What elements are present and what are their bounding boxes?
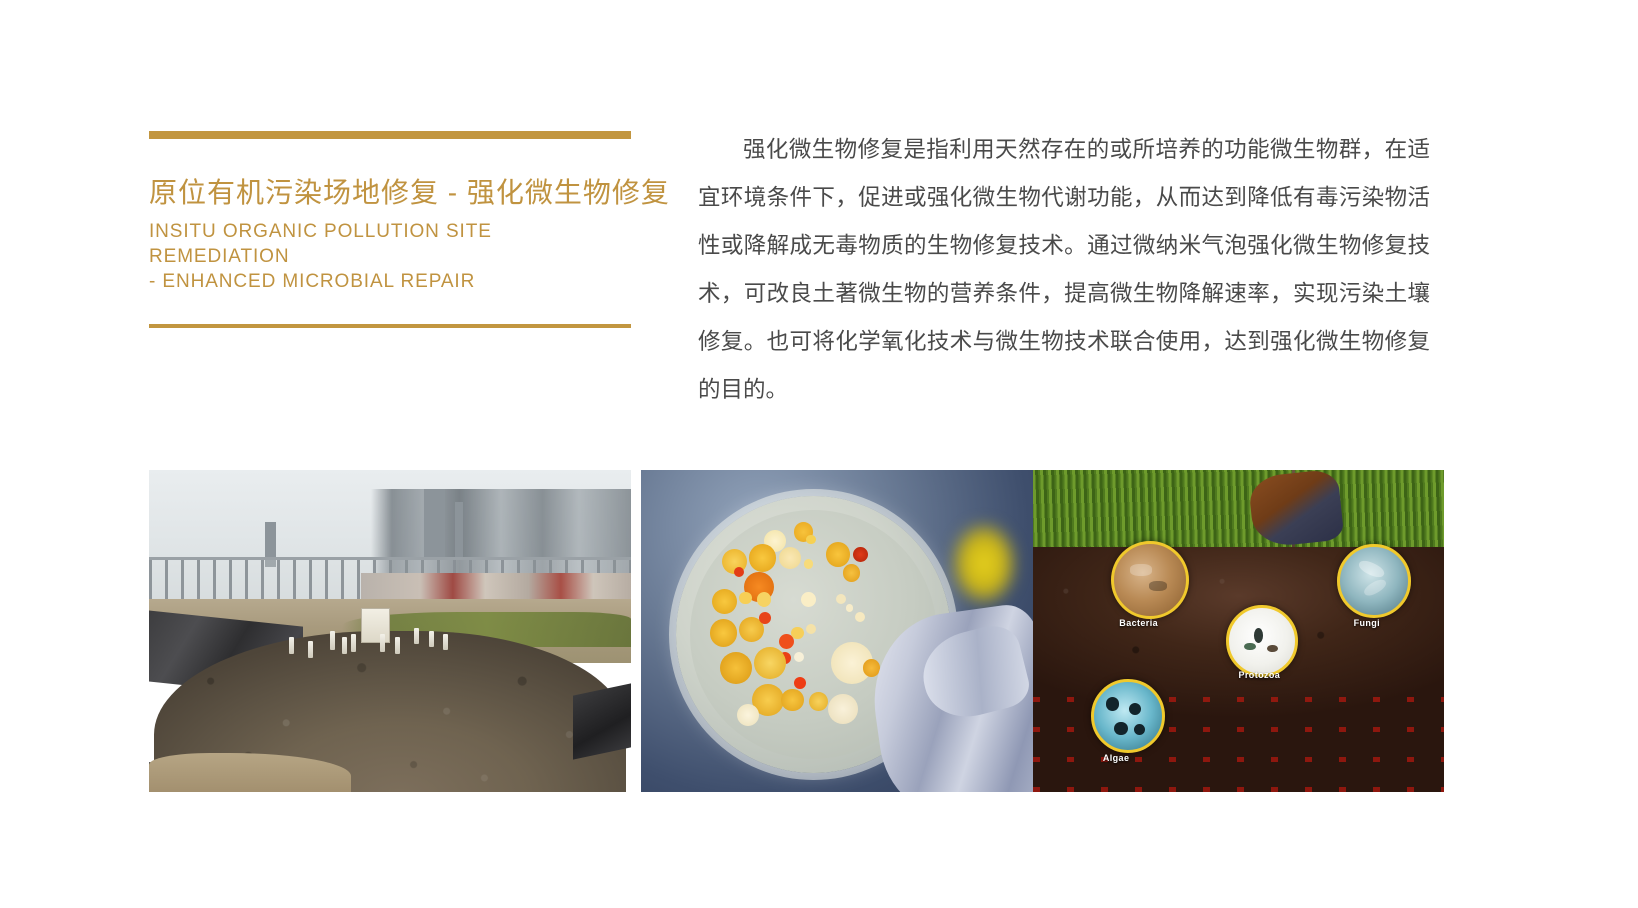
page-title-english-line2: - ENHANCED MICROBIAL REPAIR bbox=[149, 269, 631, 294]
site-injection-well bbox=[289, 637, 294, 653]
colony bbox=[781, 689, 803, 711]
micro-detail bbox=[1106, 697, 1120, 711]
micro-detail bbox=[1356, 558, 1386, 581]
colony bbox=[809, 692, 829, 712]
colony bbox=[806, 535, 816, 545]
colony bbox=[757, 592, 772, 607]
callout-algae bbox=[1091, 679, 1165, 753]
title-block: 原位有机污染场地修复 - 强化微生物修复 INSITU ORGANIC POLL… bbox=[149, 131, 631, 294]
micro-detail bbox=[1362, 577, 1389, 599]
micro-detail bbox=[1134, 724, 1145, 735]
site-injection-well bbox=[342, 637, 347, 653]
colony bbox=[779, 547, 801, 569]
micro-detail bbox=[1244, 643, 1256, 651]
body-paragraph: 强化微生物修复是指利用天然存在的或所培养的功能微生物群，在适宜环境条件下，促进或… bbox=[698, 126, 1430, 414]
colony bbox=[828, 694, 858, 724]
site-injection-well bbox=[380, 634, 385, 652]
colony bbox=[734, 567, 744, 577]
callout-label-bacteria: Bacteria bbox=[1119, 618, 1158, 628]
colony bbox=[737, 704, 759, 726]
soil-red-particles bbox=[1033, 679, 1444, 792]
photo-soil-microbiology: Bacteria Fungi Protozoa Algae bbox=[1033, 470, 1444, 792]
callout-label-algae: Algae bbox=[1103, 753, 1130, 763]
callout-protozoa bbox=[1226, 605, 1298, 677]
page-title-english: INSITU ORGANIC POLLUTION SITE REMEDIATIO… bbox=[149, 219, 631, 294]
colony bbox=[855, 612, 865, 622]
colony bbox=[826, 542, 851, 567]
colony bbox=[759, 612, 771, 624]
colony bbox=[843, 564, 860, 581]
site-black-liner-right bbox=[573, 682, 631, 760]
colony bbox=[846, 604, 853, 611]
photo-strip: Bacteria Fungi Protozoa Algae bbox=[149, 470, 1444, 792]
callout-bacteria bbox=[1111, 541, 1189, 619]
photo-contaminated-site bbox=[149, 470, 631, 792]
site-injection-well bbox=[330, 631, 335, 650]
colony bbox=[712, 589, 737, 614]
micro-detail bbox=[1130, 564, 1152, 576]
site-injection-well bbox=[429, 631, 434, 647]
gold-rule-top bbox=[149, 131, 631, 139]
site-injection-well bbox=[443, 634, 448, 650]
colony bbox=[806, 624, 816, 634]
colony bbox=[749, 544, 776, 571]
colony bbox=[853, 547, 868, 562]
micro-detail bbox=[1114, 722, 1128, 736]
micro-detail bbox=[1149, 581, 1168, 591]
site-reactor-tower bbox=[424, 489, 446, 560]
colony bbox=[754, 647, 786, 679]
site-stack bbox=[455, 502, 463, 560]
colony bbox=[739, 592, 751, 604]
photo-petri-dish bbox=[641, 470, 1033, 792]
micro-detail bbox=[1129, 703, 1141, 715]
colony bbox=[779, 634, 794, 649]
colony bbox=[794, 677, 806, 689]
site-control-cabinet bbox=[361, 608, 390, 642]
colony bbox=[801, 592, 816, 607]
soil-grass-layer bbox=[1033, 470, 1444, 554]
micro-detail bbox=[1254, 628, 1263, 643]
callout-label-fungi: Fungi bbox=[1354, 618, 1381, 628]
colony bbox=[836, 594, 846, 604]
hazard-sign-blur bbox=[951, 522, 1018, 606]
callout-label-protozoa: Protozoa bbox=[1239, 670, 1281, 680]
site-injection-well bbox=[351, 634, 356, 652]
gold-rule-bottom bbox=[149, 324, 631, 328]
colony bbox=[804, 559, 814, 569]
colony bbox=[720, 652, 752, 684]
callout-fungi bbox=[1337, 544, 1411, 618]
colony bbox=[710, 619, 737, 646]
micro-detail bbox=[1267, 645, 1278, 652]
site-buildings bbox=[361, 573, 631, 602]
site-injection-well bbox=[395, 637, 400, 653]
site-injection-well bbox=[414, 628, 419, 644]
site-injection-well bbox=[308, 641, 313, 659]
page-title-english-line1: INSITU ORGANIC POLLUTION SITE REMEDIATIO… bbox=[149, 219, 631, 269]
colony bbox=[794, 652, 804, 662]
page-title-chinese: 原位有机污染场地修复 - 强化微生物修复 bbox=[149, 177, 631, 209]
